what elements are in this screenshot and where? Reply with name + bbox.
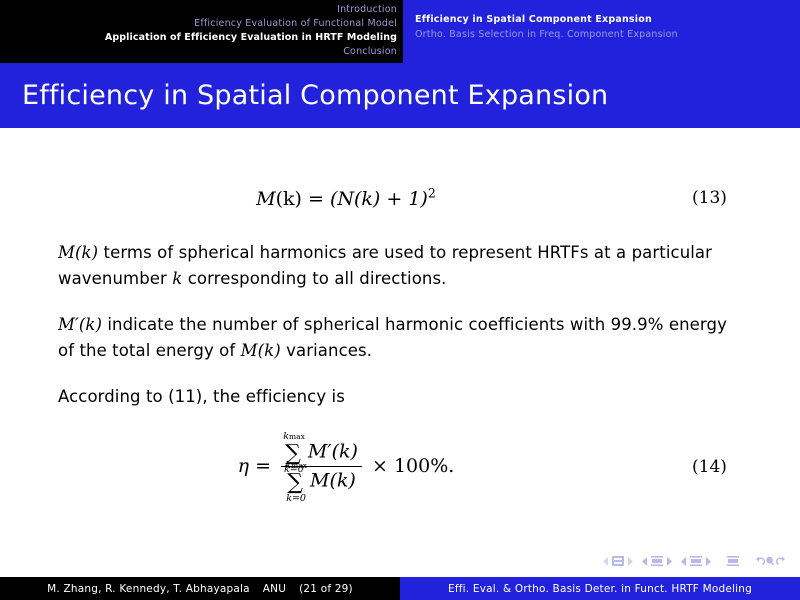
footer-institute: ANU xyxy=(263,583,286,595)
footer-authors: M. Zhang, R. Kennedy, T. Abhayapala xyxy=(47,583,250,595)
slide-headline: Introduction Efficiency Evaluation of Fu… xyxy=(0,0,800,63)
beamer-navigation-symbols xyxy=(0,549,800,573)
inline-math-k: k xyxy=(172,269,182,288)
nav-subsection-spatial-component[interactable]: Efficiency in Spatial Component Expansio… xyxy=(415,12,652,27)
paragraph-1-text-tail: corresponding to all directions. xyxy=(182,269,446,288)
previous-frame-icon[interactable] xyxy=(642,557,648,566)
frame-title-bar: Efficiency in Spatial Component Expansio… xyxy=(0,63,800,128)
subsection-navigation-bar: Efficiency in Spatial Component Expansio… xyxy=(403,0,800,63)
frame-navigation-group[interactable] xyxy=(642,556,672,567)
equation-14-row: η = ∑kmaxk=0 M′(k) ∑kmaxk=0 M(k) × 100%.… xyxy=(0,440,800,494)
equation-13-row: M(k) = (N(k) + 1)2 (13) xyxy=(0,186,800,210)
fraction-denominator: ∑kmaxk=0 M(k) xyxy=(281,467,362,494)
paragraph-spherical-harmonics: M(k) terms of spherical harmonics are us… xyxy=(58,240,748,292)
times-symbol: × xyxy=(372,455,388,477)
efficiency-fraction: ∑kmaxk=0 M′(k) ∑kmaxk=0 M(k) xyxy=(281,440,362,494)
equation-14: η = ∑kmaxk=0 M′(k) ∑kmaxk=0 M(k) × 100%. xyxy=(0,440,692,494)
go-forward-icon[interactable] xyxy=(776,556,786,567)
frame-stack-icon[interactable] xyxy=(651,556,663,567)
previous-slide-icon[interactable] xyxy=(603,557,609,566)
slide-navigation-group[interactable] xyxy=(603,556,633,566)
nav-section-conclusion[interactable]: Conclusion xyxy=(343,45,397,59)
slide-footline: M. Zhang, R. Kennedy, T. Abhayapala ANU … xyxy=(0,577,800,600)
nav-section-introduction[interactable]: Introduction xyxy=(337,3,397,17)
nav-subsection-ortho-basis[interactable]: Ortho. Basis Selection in Freq. Componen… xyxy=(415,27,678,42)
inline-math-mk-2: M(k) xyxy=(241,341,281,360)
sum-upper-limit-numerator: kmax xyxy=(283,432,305,441)
sum-upper-limit-denominator: kmax xyxy=(285,461,307,470)
equation-14-expression: η = ∑kmaxk=0 M′(k) ∑kmaxk=0 M(k) × 100%. xyxy=(238,455,455,477)
sum-lower-limit-denominator: k=0 xyxy=(286,494,306,503)
nav-section-application-hrtf[interactable]: Application of Efficiency Evaluation in … xyxy=(105,31,397,45)
percent-value: 100%. xyxy=(394,455,454,477)
previous-subsection-icon[interactable] xyxy=(681,557,687,566)
paragraph-according-to-11: According to (11), the efficiency is xyxy=(58,384,748,410)
paragraph-2-text-tail: variances. xyxy=(281,341,372,360)
section-navigation-group[interactable] xyxy=(727,556,739,567)
footer-short-title: Effi. Eval. & Ortho. Basis Deter. in Fun… xyxy=(448,583,752,595)
next-subsection-icon[interactable] xyxy=(705,557,711,566)
subsection-navigation-group[interactable] xyxy=(681,556,711,567)
footer-title-block: Effi. Eval. & Ortho. Basis Deter. in Fun… xyxy=(400,577,800,600)
paragraph-2-text: indicate the number of spherical harmoni… xyxy=(58,315,727,360)
go-back-icon[interactable] xyxy=(755,556,765,567)
nav-section-efficiency-evaluation[interactable]: Efficiency Evaluation of Functional Mode… xyxy=(194,17,397,31)
slide-content: M(k) = (N(k) + 1)2 (13) M(k) terms of sp… xyxy=(0,128,800,545)
footer-page-number: (21 of 29) xyxy=(299,583,353,595)
next-frame-icon[interactable] xyxy=(666,557,672,566)
inline-math-mprime-k: M′(k) xyxy=(58,315,102,334)
equation-13: M(k) = (N(k) + 1)2 xyxy=(0,186,692,210)
slide-frame-icon[interactable] xyxy=(612,556,624,566)
section-navigation-bar: Introduction Efficiency Evaluation of Fu… xyxy=(0,0,403,63)
back-find-forward-group[interactable] xyxy=(755,556,786,567)
equation-14-tag: (14) xyxy=(692,457,800,477)
search-icon[interactable] xyxy=(766,556,775,567)
equals-symbol: = xyxy=(255,455,271,477)
eta-symbol: η xyxy=(238,455,249,477)
next-slide-icon[interactable] xyxy=(627,557,633,566)
equation-13-tag: (13) xyxy=(692,188,800,208)
summation-icon-denominator: ∑kmaxk=0 xyxy=(287,470,303,495)
equation-13-expression: M(k) = (N(k) + 1)2 xyxy=(256,188,436,210)
page-title: Efficiency in Spatial Component Expansio… xyxy=(0,81,608,111)
footer-author-block: M. Zhang, R. Kennedy, T. Abhayapala ANU … xyxy=(0,577,400,600)
paragraph-coefficients-energy: M′(k) indicate the number of spherical h… xyxy=(58,312,748,364)
subsection-stack-icon[interactable] xyxy=(690,556,702,567)
presentation-overview-icon[interactable] xyxy=(727,556,739,567)
inline-math-mk: M(k) xyxy=(58,243,98,262)
